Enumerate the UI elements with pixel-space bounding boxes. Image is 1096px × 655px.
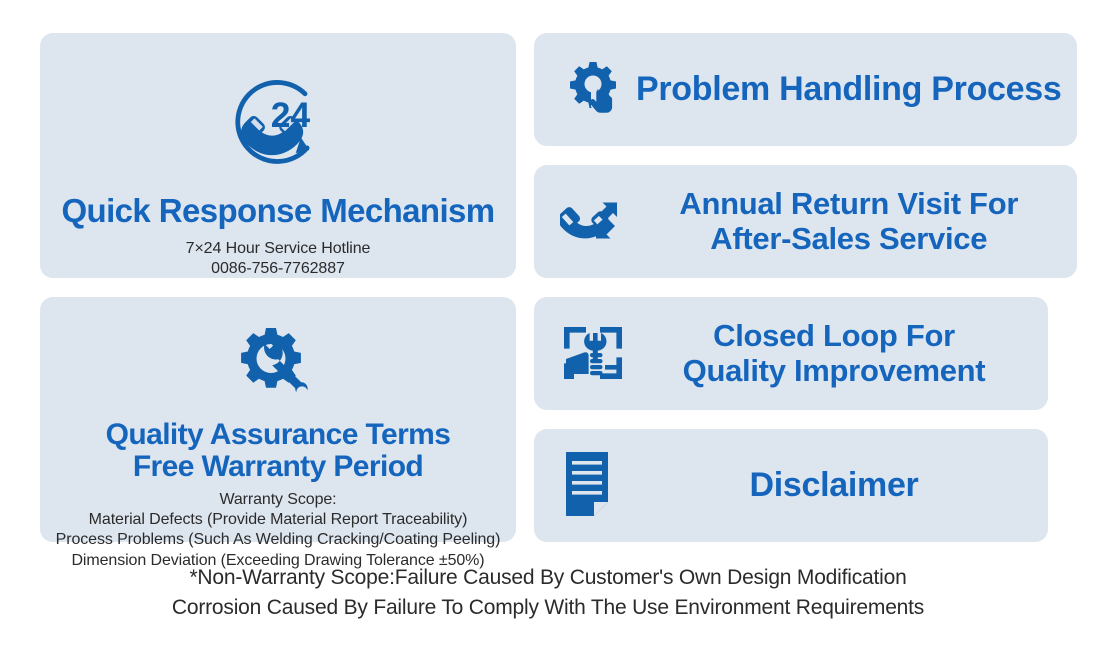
card-quality-assurance: Quality Assurance Terms Free Warranty Pe… — [40, 297, 516, 542]
footer-line-2: Corrosion Caused By Failure To Comply Wi… — [0, 593, 1096, 623]
after-sales-service-infographic: 24 Quick Response Mechanism 7×24 Hour Se… — [0, 0, 1096, 655]
problem-handling-title: Problem Handling Process — [636, 72, 1061, 108]
non-warranty-footer: *Non-Warranty Scope:Failure Caused By Cu… — [0, 563, 1096, 623]
phone-exchange-icon — [550, 189, 636, 255]
card-quick-response: 24 Quick Response Mechanism 7×24 Hour Se… — [40, 33, 516, 278]
warranty-scope-label: Warranty Scope: — [56, 490, 501, 510]
right-stack-top: Problem Handling Process — [534, 33, 1048, 278]
phone-24h-icon: 24 — [226, 73, 330, 177]
hand-wrench-screen-icon — [550, 321, 636, 387]
card-annual-return-visit: Annual Return Visit For After-Sales Serv… — [534, 165, 1077, 278]
annual-return-visit-title: Annual Return Visit For After-Sales Serv… — [636, 187, 1061, 255]
warranty-scope-item-2: Process Problems (Such As Welding Cracki… — [56, 530, 501, 550]
closed-loop-title: Closed Loop For Quality Improvement — [636, 319, 1032, 387]
document-lines-icon — [550, 450, 636, 522]
card-disclaimer: Disclaimer — [534, 429, 1048, 542]
annual-return-visit-title-line1: Annual Return Visit For — [679, 186, 1018, 221]
gear-click-icon — [550, 58, 636, 122]
quality-assurance-title: Quality Assurance Terms Free Warranty Pe… — [106, 419, 451, 484]
hotline-label: 7×24 Hour Service Hotline — [186, 239, 371, 259]
quick-response-subtext: 7×24 Hour Service Hotline 0086-756-77628… — [186, 239, 371, 280]
closed-loop-title-line1: Closed Loop For — [713, 318, 955, 353]
disclaimer-title: Disclaimer — [636, 468, 1032, 504]
closed-loop-title-line2: Quality Improvement — [683, 353, 986, 388]
quick-response-title: Quick Response Mechanism — [61, 193, 494, 229]
card-problem-handling: Problem Handling Process — [534, 33, 1077, 146]
annual-return-visit-title-line2: After-Sales Service — [710, 221, 987, 256]
quality-assurance-title-line1: Quality Assurance Terms — [106, 418, 451, 451]
hotline-number: 0086-756-7762887 — [186, 259, 371, 279]
warranty-scope-item-1: Material Defects (Provide Material Repor… — [56, 510, 501, 530]
quality-assurance-title-line2: Free Warranty Period — [133, 450, 423, 483]
footer-line-1: *Non-Warranty Scope:Failure Caused By Cu… — [0, 563, 1096, 593]
card-grid: 24 Quick Response Mechanism 7×24 Hour Se… — [40, 33, 1048, 543]
right-stack-bottom: Closed Loop For Quality Improvement — [534, 297, 1048, 542]
quality-assurance-subtext: Warranty Scope: Material Defects (Provid… — [56, 490, 501, 571]
gear-wrench-icon — [235, 325, 321, 411]
svg-text:24: 24 — [271, 96, 311, 135]
card-closed-loop: Closed Loop For Quality Improvement — [534, 297, 1048, 410]
